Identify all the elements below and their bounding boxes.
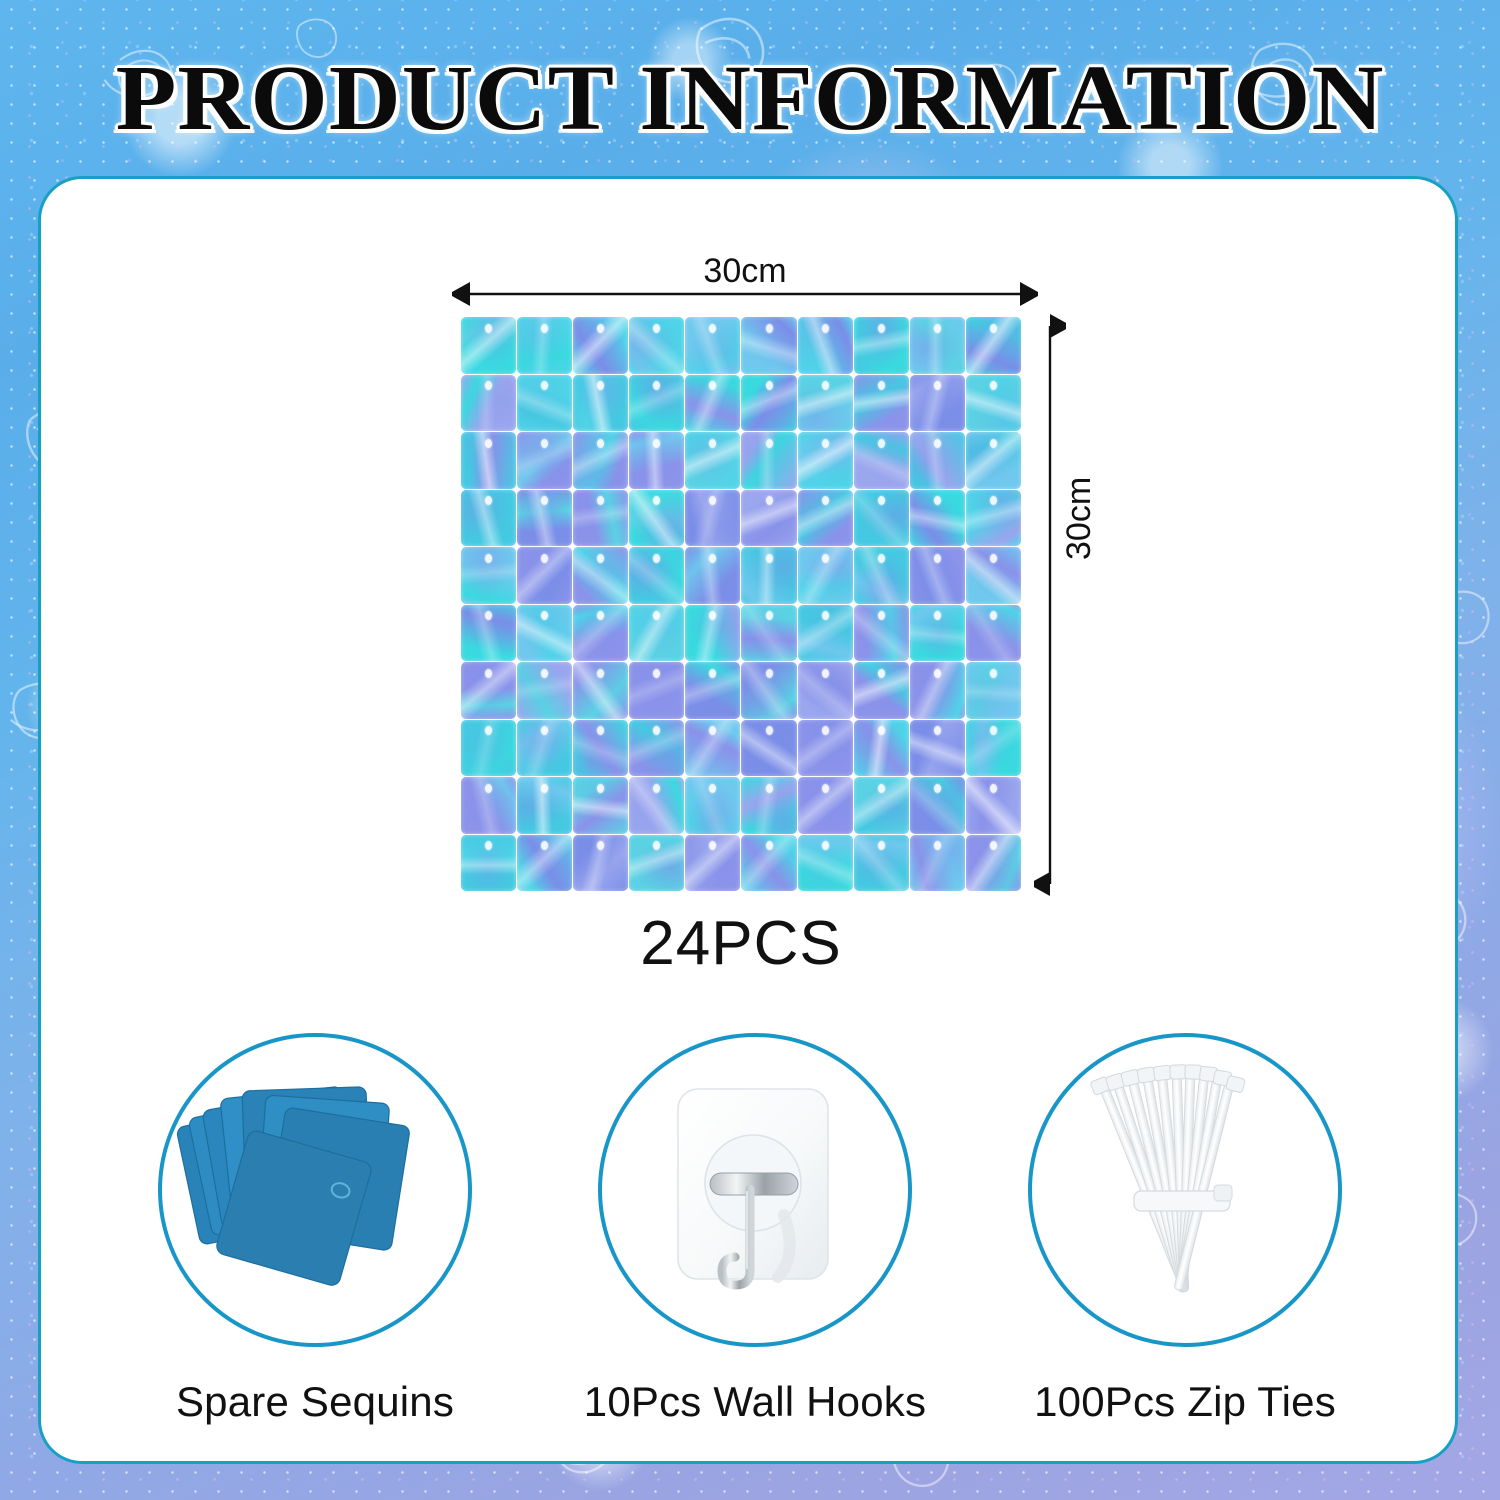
sequin-sheen xyxy=(910,835,965,892)
sequin-tile xyxy=(741,720,796,777)
caption-zip-ties: 100Pcs Zip Ties xyxy=(975,1378,1395,1426)
sequin-tile xyxy=(910,835,965,892)
sequin-tile xyxy=(685,490,740,547)
sequin-sheen xyxy=(798,317,853,374)
sequin-sheen xyxy=(966,375,1021,432)
sequin-sheen xyxy=(573,662,628,719)
accessory-circle-outline xyxy=(598,1033,912,1347)
sequin-tile xyxy=(966,662,1021,719)
sequin-sheen xyxy=(629,375,684,432)
sequin-tile xyxy=(629,317,684,374)
sequin-sheen xyxy=(798,375,853,432)
sequin-sheen xyxy=(517,605,572,662)
sequin-tile xyxy=(910,432,965,489)
sequin-tile xyxy=(573,432,628,489)
sequin-tile xyxy=(573,317,628,374)
sequin-tile xyxy=(798,490,853,547)
sequin-sheen xyxy=(573,547,628,604)
sequin-tile xyxy=(517,432,572,489)
sequin-sheen xyxy=(685,605,740,662)
sequin-sheen xyxy=(685,835,740,892)
sequin-tile xyxy=(517,317,572,374)
sequin-tile xyxy=(629,662,684,719)
sequin-tile xyxy=(685,432,740,489)
sequin-sheen xyxy=(798,662,853,719)
sequin-sheen xyxy=(966,490,1021,547)
sequin-sheen xyxy=(798,547,853,604)
sequin-sheen xyxy=(966,547,1021,604)
sequin-panel xyxy=(461,317,1021,891)
sequin-sheen xyxy=(741,662,796,719)
sequin-tile xyxy=(798,777,853,834)
sequin-sheen xyxy=(966,317,1021,374)
sequin-tile xyxy=(517,720,572,777)
sequin-tile xyxy=(573,720,628,777)
sequin-sheen xyxy=(741,490,796,547)
sequin-tile xyxy=(966,605,1021,662)
sequin-tile xyxy=(798,662,853,719)
sequin-tile xyxy=(854,777,909,834)
sequin-tile xyxy=(854,605,909,662)
sequin-sheen xyxy=(461,375,516,432)
sequin-sheen xyxy=(854,375,909,432)
sequin-tile xyxy=(798,432,853,489)
sequin-tile xyxy=(573,835,628,892)
sequin-tile xyxy=(461,547,516,604)
sequin-tile xyxy=(854,662,909,719)
sequin-sheen xyxy=(741,605,796,662)
sequin-tile xyxy=(629,835,684,892)
sequin-tile xyxy=(910,547,965,604)
sequin-sheen xyxy=(517,662,572,719)
sequin-tile xyxy=(966,777,1021,834)
sequin-sheen xyxy=(741,375,796,432)
sequin-sheen xyxy=(966,777,1021,834)
sequin-tile xyxy=(798,317,853,374)
sequin-sheen xyxy=(685,317,740,374)
sequin-sheen xyxy=(741,777,796,834)
sequin-tile xyxy=(854,720,909,777)
sequin-sheen xyxy=(910,662,965,719)
accessory-circle-outline xyxy=(1028,1033,1342,1347)
sequin-tile xyxy=(854,835,909,892)
sequin-sheen xyxy=(517,375,572,432)
sequin-sheen xyxy=(685,662,740,719)
sequin-sheen xyxy=(629,547,684,604)
sequin-sheen xyxy=(461,720,516,777)
sequin-tile xyxy=(629,777,684,834)
sequin-tile xyxy=(966,490,1021,547)
sequin-tile xyxy=(517,375,572,432)
sequin-tile xyxy=(910,317,965,374)
sequin-tile xyxy=(854,317,909,374)
sequin-sheen xyxy=(966,720,1021,777)
sequin-sheen xyxy=(798,605,853,662)
sequin-sheen xyxy=(741,432,796,489)
sequin-tile xyxy=(854,432,909,489)
sequin-tile xyxy=(629,547,684,604)
sequin-sheen xyxy=(461,317,516,374)
sequin-sheen xyxy=(629,432,684,489)
sequin-sheen xyxy=(798,720,853,777)
sequin-tile xyxy=(910,662,965,719)
sequin-tile xyxy=(461,835,516,892)
sequin-sheen xyxy=(685,432,740,489)
sequin-sheen xyxy=(854,317,909,374)
sequin-sheen xyxy=(629,662,684,719)
sequin-tile xyxy=(517,835,572,892)
sequin-tile xyxy=(741,375,796,432)
sequin-sheen xyxy=(854,432,909,489)
sequin-tile xyxy=(685,720,740,777)
sequin-sheen xyxy=(461,432,516,489)
sequin-tile xyxy=(966,432,1021,489)
sequin-tile xyxy=(910,605,965,662)
sequin-sheen xyxy=(966,605,1021,662)
sequin-tile xyxy=(517,490,572,547)
sequin-sheen xyxy=(685,720,740,777)
sequin-sheen xyxy=(685,375,740,432)
quantity-label: 24PCS xyxy=(461,908,1021,979)
sequin-sheen xyxy=(854,490,909,547)
sequin-sheen xyxy=(798,432,853,489)
sequin-sheen xyxy=(966,662,1021,719)
sequin-sheen xyxy=(910,375,965,432)
sequin-sheen xyxy=(741,835,796,892)
sequin-sheen xyxy=(629,835,684,892)
sequin-tile xyxy=(685,835,740,892)
sequin-sheen xyxy=(461,835,516,892)
sequin-tile xyxy=(910,490,965,547)
accessory-zip-ties xyxy=(1028,1033,1342,1347)
sequin-sheen xyxy=(966,835,1021,892)
sequin-tile xyxy=(685,375,740,432)
sequin-sheen xyxy=(685,547,740,604)
sequin-tile xyxy=(798,375,853,432)
accessory-spare-sequins xyxy=(158,1033,472,1347)
sequin-tile xyxy=(854,547,909,604)
sequin-tile xyxy=(461,777,516,834)
sequin-sheen xyxy=(461,777,516,834)
sequin-sheen xyxy=(854,605,909,662)
sequin-tile xyxy=(741,432,796,489)
sequin-sheen xyxy=(573,317,628,374)
sequin-tile xyxy=(741,490,796,547)
sequin-sheen xyxy=(685,777,740,834)
sequin-tile xyxy=(854,375,909,432)
sequin-tile xyxy=(573,662,628,719)
sequin-tile xyxy=(741,777,796,834)
sequin-tile xyxy=(798,720,853,777)
sequin-tile xyxy=(910,720,965,777)
sequin-sheen xyxy=(910,605,965,662)
sequin-tile xyxy=(685,317,740,374)
sequin-grid xyxy=(461,317,1021,891)
sequin-sheen xyxy=(573,490,628,547)
sequin-tile xyxy=(573,605,628,662)
sequin-tile xyxy=(685,605,740,662)
sequin-sheen xyxy=(517,777,572,834)
sequin-sheen xyxy=(910,432,965,489)
sequin-sheen xyxy=(461,605,516,662)
sequin-tile xyxy=(461,720,516,777)
sequin-tile xyxy=(910,375,965,432)
sequin-sheen xyxy=(573,720,628,777)
sequin-tile xyxy=(517,662,572,719)
sequin-sheen xyxy=(629,720,684,777)
sequin-sheen xyxy=(517,720,572,777)
sequin-tile xyxy=(629,490,684,547)
sequin-tile xyxy=(461,432,516,489)
sequin-sheen xyxy=(573,375,628,432)
sequin-tile xyxy=(966,720,1021,777)
caption-spare-sequins: Spare Sequins xyxy=(105,1378,525,1426)
sequin-tile xyxy=(461,490,516,547)
product-information-infographic: PRODUCT INFORMATION 30cm 30cm xyxy=(0,0,1500,1500)
accessory-wall-hooks xyxy=(598,1033,912,1347)
sequin-sheen xyxy=(517,835,572,892)
sequin-sheen xyxy=(461,490,516,547)
sequin-tile xyxy=(741,835,796,892)
caption-wall-hooks: 10Pcs Wall Hooks xyxy=(545,1378,965,1426)
sequin-tile xyxy=(854,490,909,547)
sequin-tile xyxy=(573,375,628,432)
sequin-tile xyxy=(629,720,684,777)
sequin-tile xyxy=(573,777,628,834)
sequin-sheen xyxy=(517,547,572,604)
sequin-tile xyxy=(685,547,740,604)
sequin-sheen xyxy=(461,547,516,604)
sequin-tile xyxy=(966,547,1021,604)
sequin-tile xyxy=(966,835,1021,892)
sequin-sheen xyxy=(741,317,796,374)
sequin-sheen xyxy=(741,720,796,777)
height-dimension-arrow xyxy=(1034,308,1066,902)
sequin-sheen xyxy=(573,605,628,662)
sequin-sheen xyxy=(573,835,628,892)
sequin-tile xyxy=(461,605,516,662)
sequin-tile xyxy=(798,835,853,892)
sequin-tile xyxy=(741,547,796,604)
sequin-sheen xyxy=(798,490,853,547)
sequin-tile xyxy=(966,375,1021,432)
sequin-tile xyxy=(629,375,684,432)
sequin-sheen xyxy=(966,432,1021,489)
sequin-tile xyxy=(629,605,684,662)
sequin-tile xyxy=(741,605,796,662)
sequin-sheen xyxy=(573,432,628,489)
sequin-sheen xyxy=(910,777,965,834)
sequin-sheen xyxy=(573,777,628,834)
width-dimension-arrow xyxy=(452,278,1038,310)
sequin-sheen xyxy=(798,835,853,892)
sequin-sheen xyxy=(685,490,740,547)
sequin-sheen xyxy=(854,547,909,604)
sequin-sheen xyxy=(910,490,965,547)
sequin-tile xyxy=(461,662,516,719)
sequin-tile xyxy=(573,547,628,604)
sequin-sheen xyxy=(910,720,965,777)
sequin-sheen xyxy=(854,777,909,834)
sequin-tile xyxy=(966,317,1021,374)
sequin-tile xyxy=(461,317,516,374)
sequin-tile xyxy=(798,547,853,604)
sequin-sheen xyxy=(629,490,684,547)
sequin-sheen xyxy=(629,605,684,662)
sequin-sheen xyxy=(629,777,684,834)
sequin-tile xyxy=(798,605,853,662)
sequin-sheen xyxy=(910,317,965,374)
page-title: PRODUCT INFORMATION xyxy=(0,52,1500,145)
sequin-tile xyxy=(461,375,516,432)
sequin-sheen xyxy=(854,720,909,777)
sequin-sheen xyxy=(629,317,684,374)
sequin-sheen xyxy=(517,317,572,374)
sequin-tile xyxy=(741,317,796,374)
sequin-sheen xyxy=(854,835,909,892)
sequin-sheen xyxy=(798,777,853,834)
sequin-tile xyxy=(517,547,572,604)
sequin-sheen xyxy=(910,547,965,604)
sequin-sheen xyxy=(517,432,572,489)
sequin-tile xyxy=(910,777,965,834)
sequin-tile xyxy=(517,777,572,834)
sequin-tile xyxy=(741,662,796,719)
sequin-sheen xyxy=(461,662,516,719)
sequin-tile xyxy=(517,605,572,662)
sequin-tile xyxy=(685,662,740,719)
sequin-tile xyxy=(629,432,684,489)
sequin-tile xyxy=(573,490,628,547)
accessory-circle-outline xyxy=(158,1033,472,1347)
sequin-sheen xyxy=(741,547,796,604)
sequin-sheen xyxy=(854,662,909,719)
sequin-sheen xyxy=(517,490,572,547)
sequin-tile xyxy=(685,777,740,834)
